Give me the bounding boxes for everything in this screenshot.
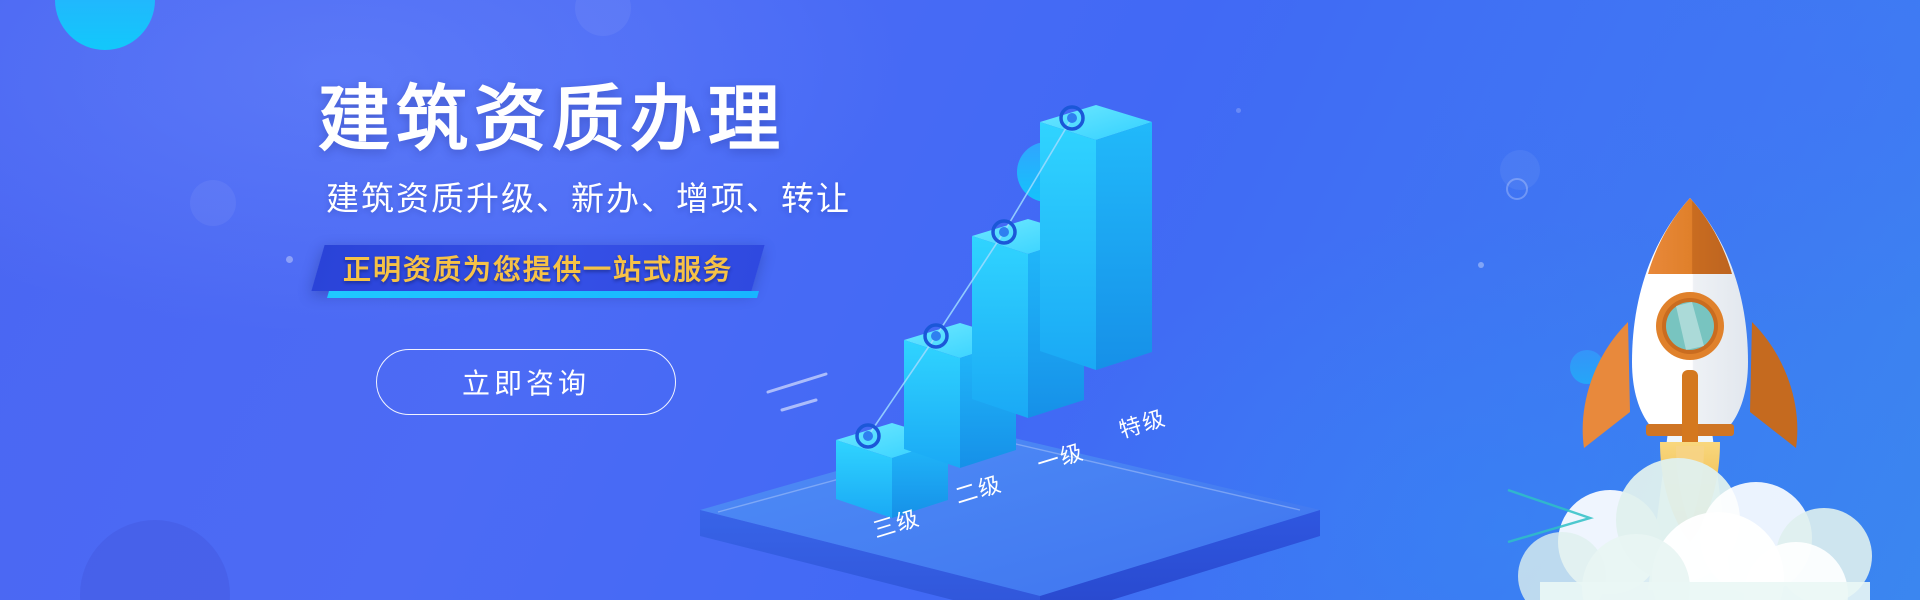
ribbon-accent-bar [327, 291, 759, 298]
rocket-nose-cone [1648, 198, 1732, 274]
ribbon-label: 正明资质为您提供一站式服务 [318, 245, 758, 291]
page-title: 建筑资质办理 [318, 84, 958, 156]
cloud-cluster [1518, 458, 1872, 600]
page-subtitle: 建筑资质升级、新办、增项、转让 [326, 182, 958, 215]
decorative-dot-1 [286, 256, 293, 263]
decorative-circle-top-left [55, 0, 155, 50]
promo-banner: 建筑资质办理 建筑资质升级、新办、增项、转让 正明资质为您提供一站式服务 立即咨… [0, 0, 1920, 600]
chart-label-tier-4: 特级 [1116, 405, 1169, 443]
headline-block: 建筑资质办理 建筑资质升级、新办、增项、转让 正明资质为您提供一站式服务 立即咨… [318, 84, 958, 415]
decorative-blob-bottom [80, 520, 230, 600]
decorative-blob-upper [575, 0, 631, 36]
rocket-illustration [1480, 190, 1920, 600]
chart-platform [700, 430, 1320, 600]
rocket-fin-left [1583, 322, 1630, 448]
service-ribbon: 正明资质为您提供一站式服务 [318, 245, 768, 297]
consult-now-button[interactable]: 立即咨询 [376, 349, 676, 415]
rocket-fin-right [1750, 322, 1797, 448]
decorative-blob-left [190, 180, 236, 226]
